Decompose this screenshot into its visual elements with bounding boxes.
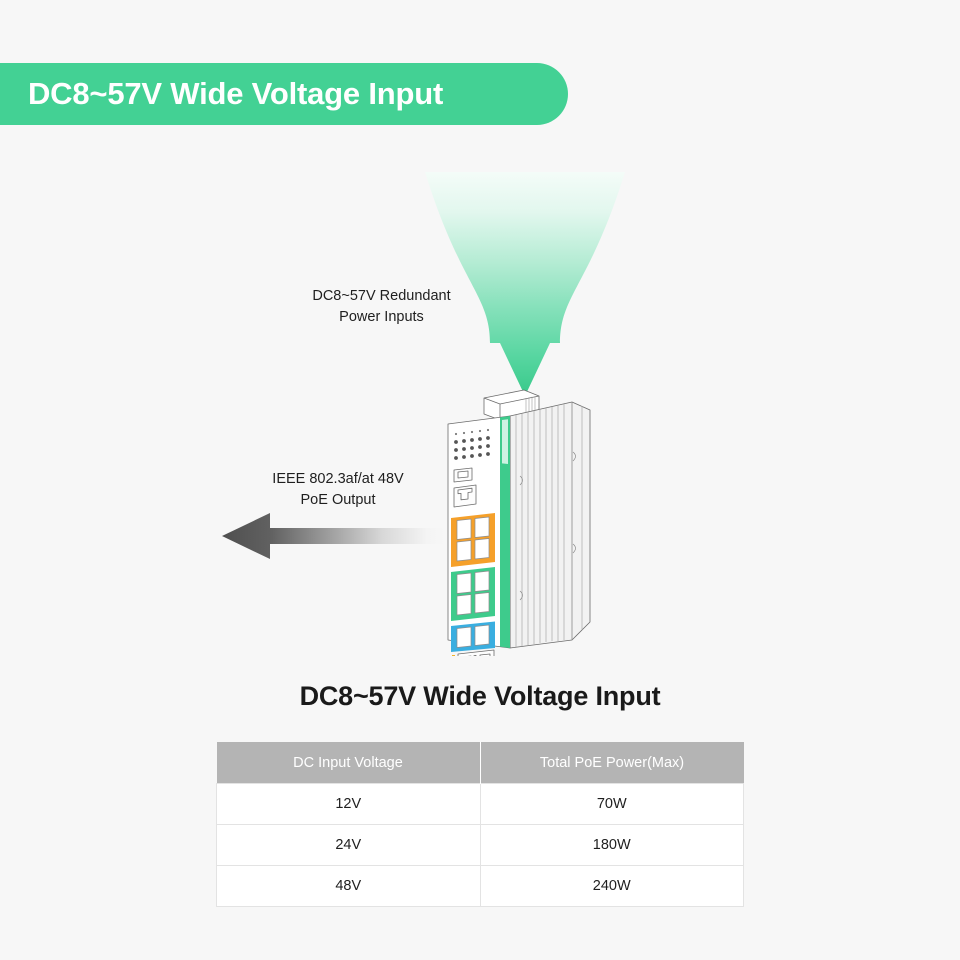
- device-heatsink-side: [510, 402, 590, 648]
- table-cell-power: 240W: [480, 866, 744, 907]
- power-input-annotation: DC8~57V Redundant Power Inputs: [284, 286, 479, 328]
- device-brand-strip: [500, 416, 510, 648]
- header-badge-label: DC8~57V Wide Voltage Input: [28, 76, 443, 112]
- table-row: 24V 180W: [217, 825, 744, 866]
- power-input-annotation-line1: DC8~57V Redundant: [284, 286, 479, 307]
- page-canvas: DC8~57V Wide Voltage Input: [0, 0, 960, 960]
- poe-output-annotation-line1: IEEE 802.3af/at 48V: [248, 469, 428, 490]
- power-input-annotation-line2: Power Inputs: [284, 307, 479, 328]
- poe-output-annotation-line2: PoE Output: [248, 490, 428, 511]
- table-row: 12V 70W: [217, 784, 744, 825]
- table-cell-voltage: 12V: [217, 784, 481, 825]
- table-header-row: DC Input Voltage Total PoE Power(Max): [217, 742, 744, 784]
- table-cell-power: 70W: [480, 784, 744, 825]
- table-row: 48V 240W: [217, 866, 744, 907]
- poe-output-arrow-icon: [210, 505, 455, 567]
- table-cell-power: 180W: [480, 825, 744, 866]
- section-title: DC8~57V Wide Voltage Input: [0, 681, 960, 712]
- power-input-beam-icon: [400, 165, 650, 405]
- industrial-poe-switch-illustration: [438, 386, 608, 656]
- port-group-green: [451, 567, 495, 621]
- table-cell-voltage: 48V: [217, 866, 481, 907]
- device-console-port: [454, 468, 472, 482]
- port-group-orange: [451, 513, 495, 567]
- poe-arrow-shape: [222, 513, 445, 559]
- port-group-blue: [451, 622, 495, 653]
- header-badge: DC8~57V Wide Voltage Input: [0, 63, 568, 125]
- device-management-rj45-port: [454, 485, 476, 507]
- power-beam-shape: [425, 172, 625, 396]
- table-cell-voltage: 24V: [217, 825, 481, 866]
- poe-output-annotation: IEEE 802.3af/at 48V PoE Output: [248, 469, 428, 511]
- spec-table: DC Input Voltage Total PoE Power(Max) 12…: [216, 742, 744, 907]
- table-header-total-poe-power: Total PoE Power(Max): [480, 742, 744, 784]
- table-header-dc-input-voltage: DC Input Voltage: [217, 742, 481, 784]
